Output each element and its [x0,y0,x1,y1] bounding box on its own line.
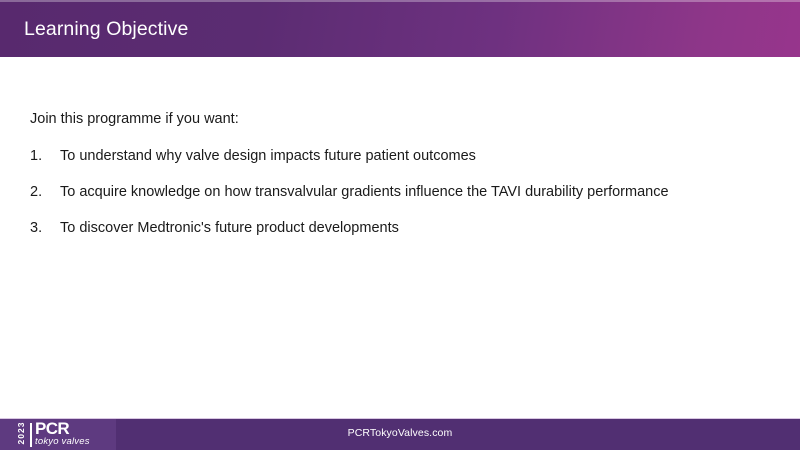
list-item-label: To discover Medtronic's future product d… [60,218,399,238]
footer-website-url[interactable]: PCRTokyoValves.com [0,427,800,439]
list-item-number: 3. [30,218,56,238]
list-item-number: 1. [30,146,56,166]
list-item-label: To understand why valve design impacts f… [60,146,476,166]
list-item: 3. To discover Medtronic's future produc… [30,218,770,254]
header-top-accent-line [0,0,800,2]
list-item-label: To acquire knowledge on how transvalvula… [60,182,669,202]
list-item: 2. To acquire knowledge on how transvalv… [30,182,770,218]
intro-text: Join this programme if you want: [30,109,239,129]
list-item-number: 2. [30,182,56,202]
slide-header-bar: Learning Objective [0,0,800,57]
slide-content-area: Join this programme if you want: 1. To u… [0,57,800,418]
footer-top-accent-line [0,418,800,419]
slide-footer-bar: 2023 PCR tokyo valves PCRTokyoValves.com [0,418,800,450]
list-item: 1. To understand why valve design impact… [30,146,770,182]
objective-list: 1. To understand why valve design impact… [30,146,770,254]
page-title: Learning Objective [24,17,188,41]
